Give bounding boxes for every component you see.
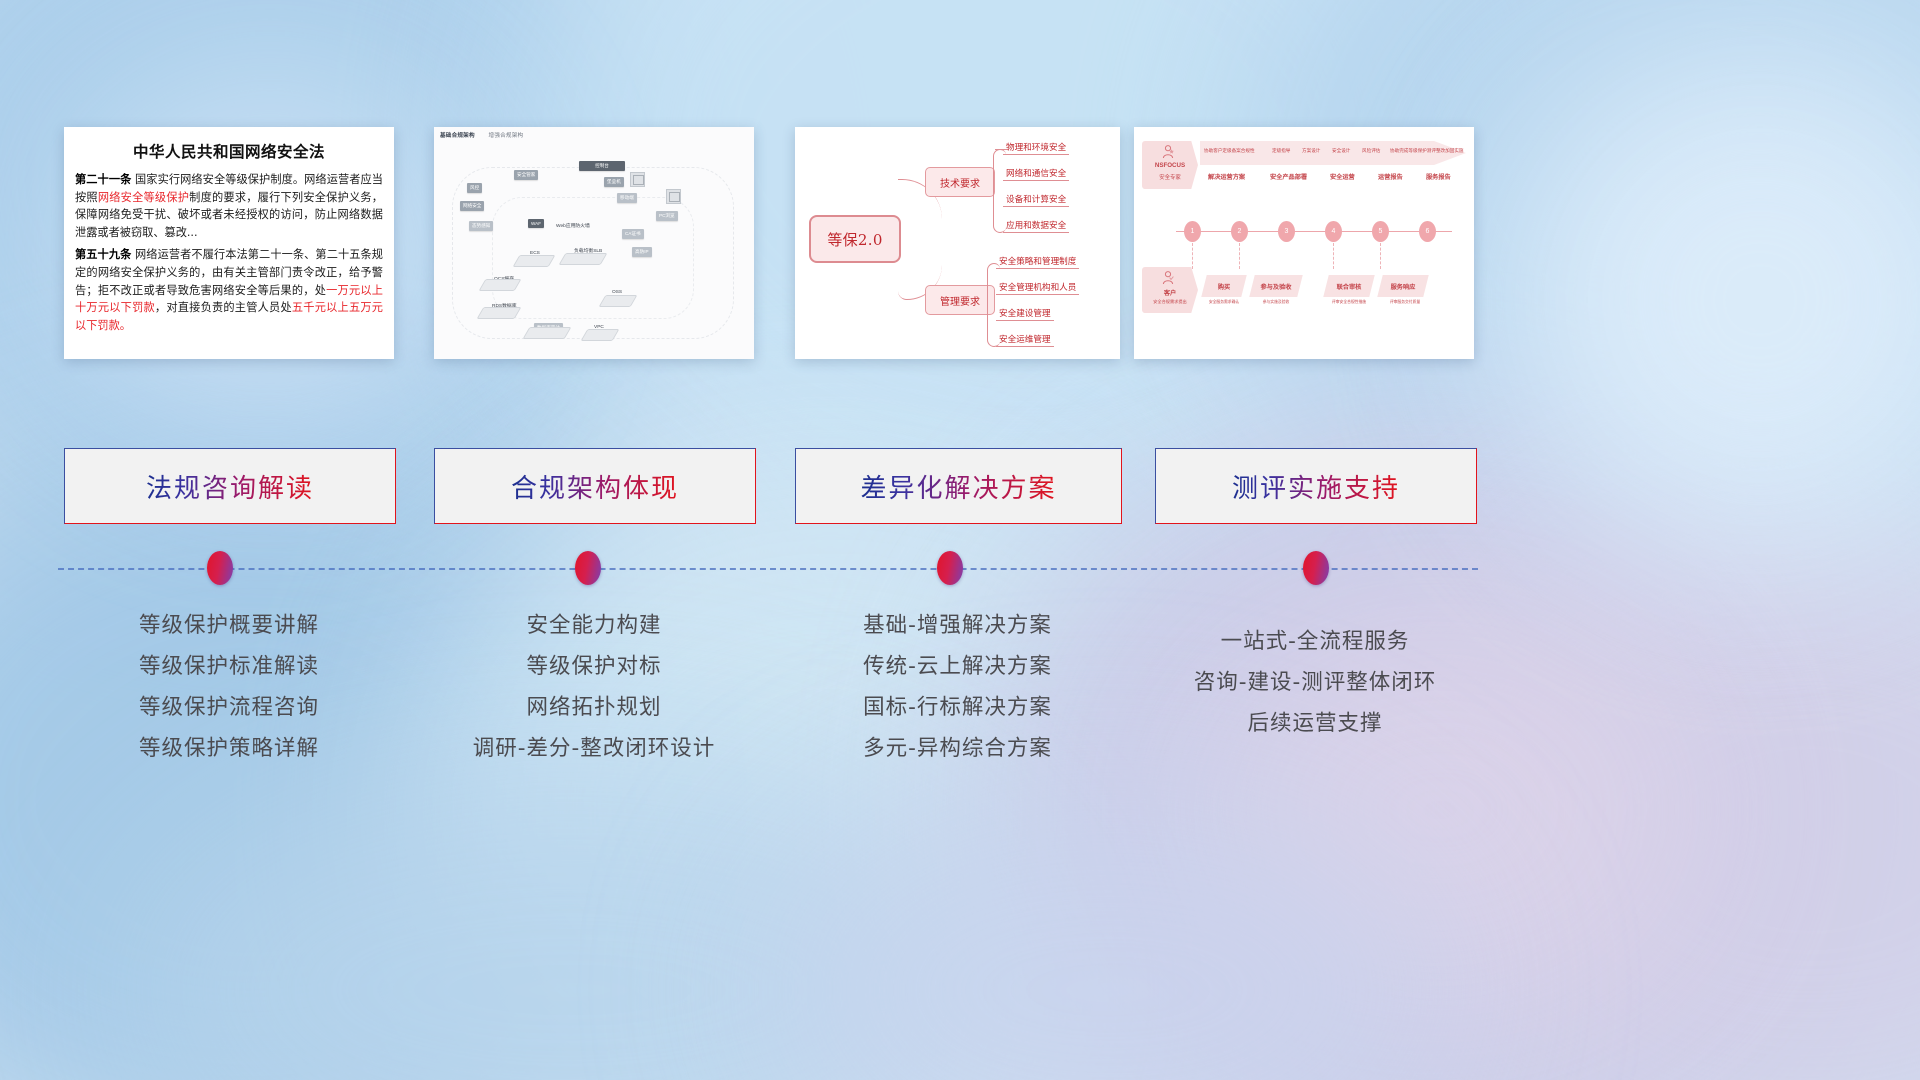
bottom-caption-3: 评审服务交付质量	[1376, 300, 1434, 305]
bottom-caption-1: 参与实施及验收	[1250, 300, 1302, 305]
node-bastion: 堡垒机	[604, 177, 624, 187]
list-item: 后续运营支撑	[1155, 703, 1475, 744]
timeline-dot-4[interactable]	[1303, 551, 1329, 585]
timeline-dot-1[interactable]	[207, 551, 233, 585]
icon-pc-device	[666, 189, 681, 204]
label-box-regulation-consulting[interactable]: 法规咨询解读	[64, 448, 396, 524]
card-law-document[interactable]: 中华人民共和国网络安全法 第二十一条 国家实行网络安全等级保护制度。网络运营者应…	[64, 127, 394, 359]
card-nsfocus-timeline[interactable]: NSFOCUS 安全专家 协助客户定级备案合规性 定级指导 方案设计 安全设计 …	[1134, 127, 1474, 359]
list-item: 基础-增强解决方案	[795, 605, 1120, 646]
timeline-dot-2[interactable]	[575, 551, 601, 585]
node-mobile-label: 移动端	[617, 193, 637, 203]
timeline-step-5: 5	[1372, 221, 1389, 242]
client-label: 客户	[1142, 288, 1198, 297]
top-row-label-0: 解决运营方案	[1208, 172, 1245, 181]
list-item: 等级保护概要讲解	[64, 605, 394, 646]
node-risk-control: 风控	[467, 183, 482, 193]
timeline-step-6: 6	[1419, 221, 1436, 242]
top-chevron-text-0: 协助客户定级备案合规性	[1204, 148, 1255, 154]
top-row-label-4: 服务报告	[1426, 172, 1451, 181]
node-situational-awareness: 态势感知	[469, 221, 493, 231]
timeline-dot-3[interactable]	[937, 551, 963, 585]
timeline-dashed-line	[58, 568, 1478, 570]
tab-basic-compliance[interactable]: 基础合规架构	[440, 133, 475, 139]
card-cloud-architecture[interactable]: 基础合规架构 增强合规架构 控制台 堡垒机 风控 安全管家 网络安全 态势感知 …	[434, 127, 754, 359]
mindmap-leaf-device: 设备和计算安全	[1003, 193, 1069, 207]
bottom-item-3: 服务响应	[1382, 282, 1424, 291]
list-item: 一站式-全流程服务	[1155, 621, 1475, 662]
label-web-firewall: Web应用防火墙	[556, 222, 590, 229]
brand-subtitle: 安全专家	[1142, 173, 1198, 181]
list-item: 调研-差分-整改闭环设计	[434, 728, 754, 769]
article-number: 第二十一条	[75, 173, 131, 186]
mindmap-leaf-application: 应用和数据安全	[1003, 219, 1069, 233]
detail-column-2: 安全能力构建 等级保护对标 网络拓扑规划 调研-差分-整改闭环设计	[434, 605, 754, 769]
client-person-icon	[1160, 270, 1176, 286]
bottom-item-2: 联合审核	[1328, 282, 1370, 291]
detail-column-3: 基础-增强解决方案 传统-云上解决方案 国标-行标解决方案 多元-异构综合方案	[795, 605, 1120, 769]
top-row-label-1: 安全产品部署	[1270, 172, 1307, 181]
top-chevron-text-4: 风险评估	[1362, 148, 1380, 154]
list-item: 咨询-建设-测评整体闭环	[1155, 662, 1475, 703]
top-chevron-text-5: 协助完成等级保护测评整改加固实施	[1390, 148, 1464, 154]
timeline-step-2: 2	[1231, 221, 1248, 242]
architecture-tabs[interactable]: 基础合规架构 增强合规架构	[440, 131, 535, 139]
list-item: 安全能力构建	[434, 605, 754, 646]
icon-mobile-device	[630, 172, 645, 187]
list-item: 等级保护标准解读	[64, 646, 394, 687]
label-row: 法规咨询解读 合规架构体现 差异化解决方案 测评实施支持	[0, 448, 1920, 523]
top-chevron-text-2: 方案设计	[1302, 148, 1320, 154]
article-text-cont: ，对直接负责的主管人员处	[155, 301, 292, 314]
timeline-step-4: 4	[1325, 221, 1342, 242]
mindmap-leaf-policy: 安全策略和管理制度	[996, 255, 1079, 269]
list-item: 传统-云上解决方案	[795, 646, 1120, 687]
mindmap-root: 等保2.0	[809, 215, 901, 263]
bottom-item-1: 参与及验收	[1254, 282, 1298, 291]
top-row-label-2: 安全运营	[1330, 172, 1355, 181]
mindmap-leaf-org: 安全管理机构和人员	[996, 281, 1079, 295]
law-article-21: 第二十一条 国家实行网络安全等级保护制度。网络运营者应当按照网络安全等级保护制度…	[75, 171, 383, 241]
label-text: 法规咨询解读	[146, 468, 314, 505]
detail-column-1: 等级保护概要讲解 等级保护标准解读 等级保护流程咨询 等级保护策略详解	[64, 605, 394, 769]
label-text: 合规架构体现	[511, 468, 679, 505]
mindmap-leaf-construction: 安全建设管理	[996, 307, 1054, 321]
card-mindmap[interactable]: 等保2.0 技术要求 物理和环境安全 网络和通信安全 设备和计算安全 应用和数据…	[795, 127, 1120, 359]
label-text: 测评实施支持	[1232, 468, 1400, 505]
bottom-caption-2: 评审安全合规性措施	[1320, 300, 1378, 305]
label-box-differentiated-solution[interactable]: 差异化解决方案	[795, 448, 1122, 524]
detail-column-4: 一站式-全流程服务 咨询-建设-测评整体闭环 后续运营支撑	[1155, 621, 1475, 744]
mindmap-leaf-operations: 安全运维管理	[996, 333, 1054, 347]
label-text: 差异化解决方案	[860, 468, 1056, 505]
mindmap-leaf-physical: 物理和环境安全	[1003, 141, 1069, 155]
list-item: 国标-行标解决方案	[795, 687, 1120, 728]
bottom-caption-0: 安全服务需求确认	[1202, 300, 1246, 305]
label-box-compliance-architecture[interactable]: 合规架构体现	[434, 448, 756, 524]
law-article-59: 第五十九条 网络运营者不履行本法第二十一条、第二十五条规定的网络安全保护义务的，…	[75, 246, 383, 334]
client-caption: 安全合规需求提出	[1142, 299, 1198, 305]
mindmap-branch-management: 管理要求	[925, 285, 995, 315]
bottom-item-0: 购买	[1206, 282, 1242, 291]
article-highlight: 网络安全等级保护	[98, 191, 189, 204]
node-security-butler: 安全管家	[514, 170, 538, 180]
list-item: 网络拓扑规划	[434, 687, 754, 728]
node-anti-ddos: 高防IP	[632, 247, 652, 257]
article-number: 第五十九条	[75, 248, 131, 261]
brand-name: NSFOCUS	[1142, 162, 1198, 169]
mindmap-leaf-network: 网络和通信安全	[1003, 167, 1069, 181]
mindmap-branch-technical: 技术要求	[925, 167, 995, 197]
label-box-assessment-support[interactable]: 测评实施支持	[1155, 448, 1477, 524]
node-pc-label: PC浏览	[656, 211, 678, 221]
node-network-security: 网络安全	[460, 201, 484, 211]
expert-person-icon	[1160, 144, 1176, 160]
law-title: 中华人民共和国网络安全法	[75, 140, 383, 162]
node-console: 控制台	[579, 161, 625, 171]
top-chevron-text-3: 安全设计	[1332, 148, 1350, 154]
timeline-step-1: 1	[1184, 221, 1201, 242]
tab-enhanced-compliance[interactable]: 增强合规架构	[489, 133, 524, 139]
list-item: 等级保护流程咨询	[64, 687, 394, 728]
card-row: 中华人民共和国网络安全法 第二十一条 国家实行网络安全等级保护制度。网络运营者应…	[0, 127, 1920, 362]
list-item: 多元-异构综合方案	[795, 728, 1120, 769]
list-item: 等级保护对标	[434, 646, 754, 687]
timeline-step-3: 3	[1278, 221, 1295, 242]
node-waf-short: WAF	[528, 219, 544, 228]
top-chevron-text-1: 定级指导	[1272, 148, 1290, 154]
node-ca-cert: CA证书	[622, 229, 644, 239]
list-item: 等级保护策略详解	[64, 728, 394, 769]
top-row-label-3: 运营报告	[1378, 172, 1403, 181]
